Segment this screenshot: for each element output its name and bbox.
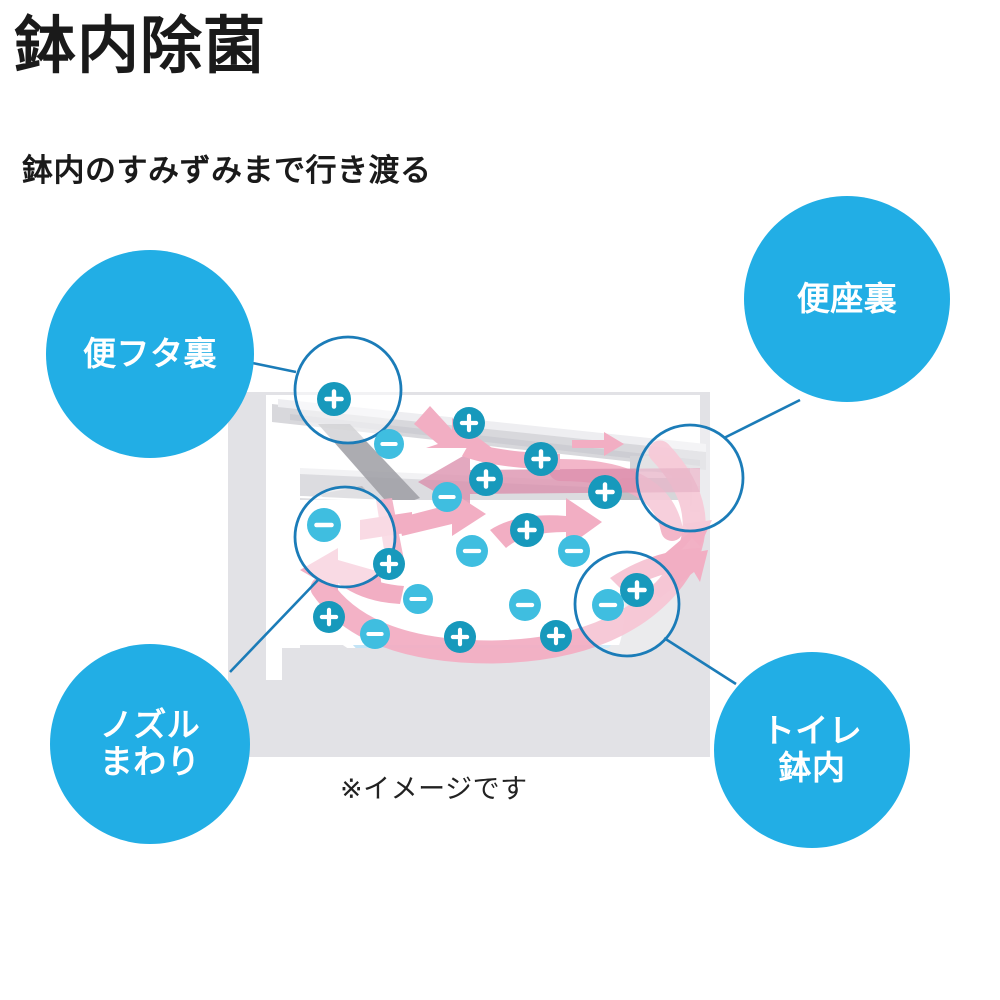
ion-minus [509, 589, 541, 621]
ion-minus [592, 589, 624, 621]
ion-plus [317, 382, 351, 416]
ion-plus [524, 442, 558, 476]
ion-minus [403, 584, 433, 614]
ion-plus [510, 513, 544, 547]
ion-minus [374, 429, 404, 459]
callout-lid[interactable]: 便フタ裏 [46, 250, 254, 458]
ion-minus [307, 508, 341, 542]
ion-plus [588, 475, 622, 509]
callout-lid-label: 便フタ裏 [83, 336, 217, 373]
toilet-illustration [0, 0, 1000, 1000]
ion-minus [558, 535, 590, 567]
callout-bowl[interactable]: トイレ 鉢内 [714, 652, 910, 848]
ion-plus [313, 601, 345, 633]
callout-bowl-label: トイレ 鉢内 [762, 713, 863, 787]
ion-plus [444, 621, 476, 653]
ion-plus [373, 548, 405, 580]
ion-plus [620, 573, 654, 607]
ion-plus [540, 620, 572, 652]
ion-plus [453, 407, 485, 439]
callout-nozzle[interactable]: ノズル まわり [50, 644, 250, 844]
ion-minus [432, 482, 462, 512]
callout-seat-label: 便座裏 [797, 281, 898, 318]
page-root: 鉢内除菌 鉢内のすみずみまで行き渡る [0, 0, 1000, 1000]
ion-minus [456, 535, 488, 567]
callout-nozzle-label: ノズル まわり [100, 707, 201, 781]
image-disclaimer-caption: ※イメージです [340, 767, 528, 806]
callout-seat[interactable]: 便座裏 [744, 196, 950, 402]
ion-minus [360, 619, 390, 649]
connector-seat [724, 400, 800, 438]
ion-plus [469, 462, 503, 496]
